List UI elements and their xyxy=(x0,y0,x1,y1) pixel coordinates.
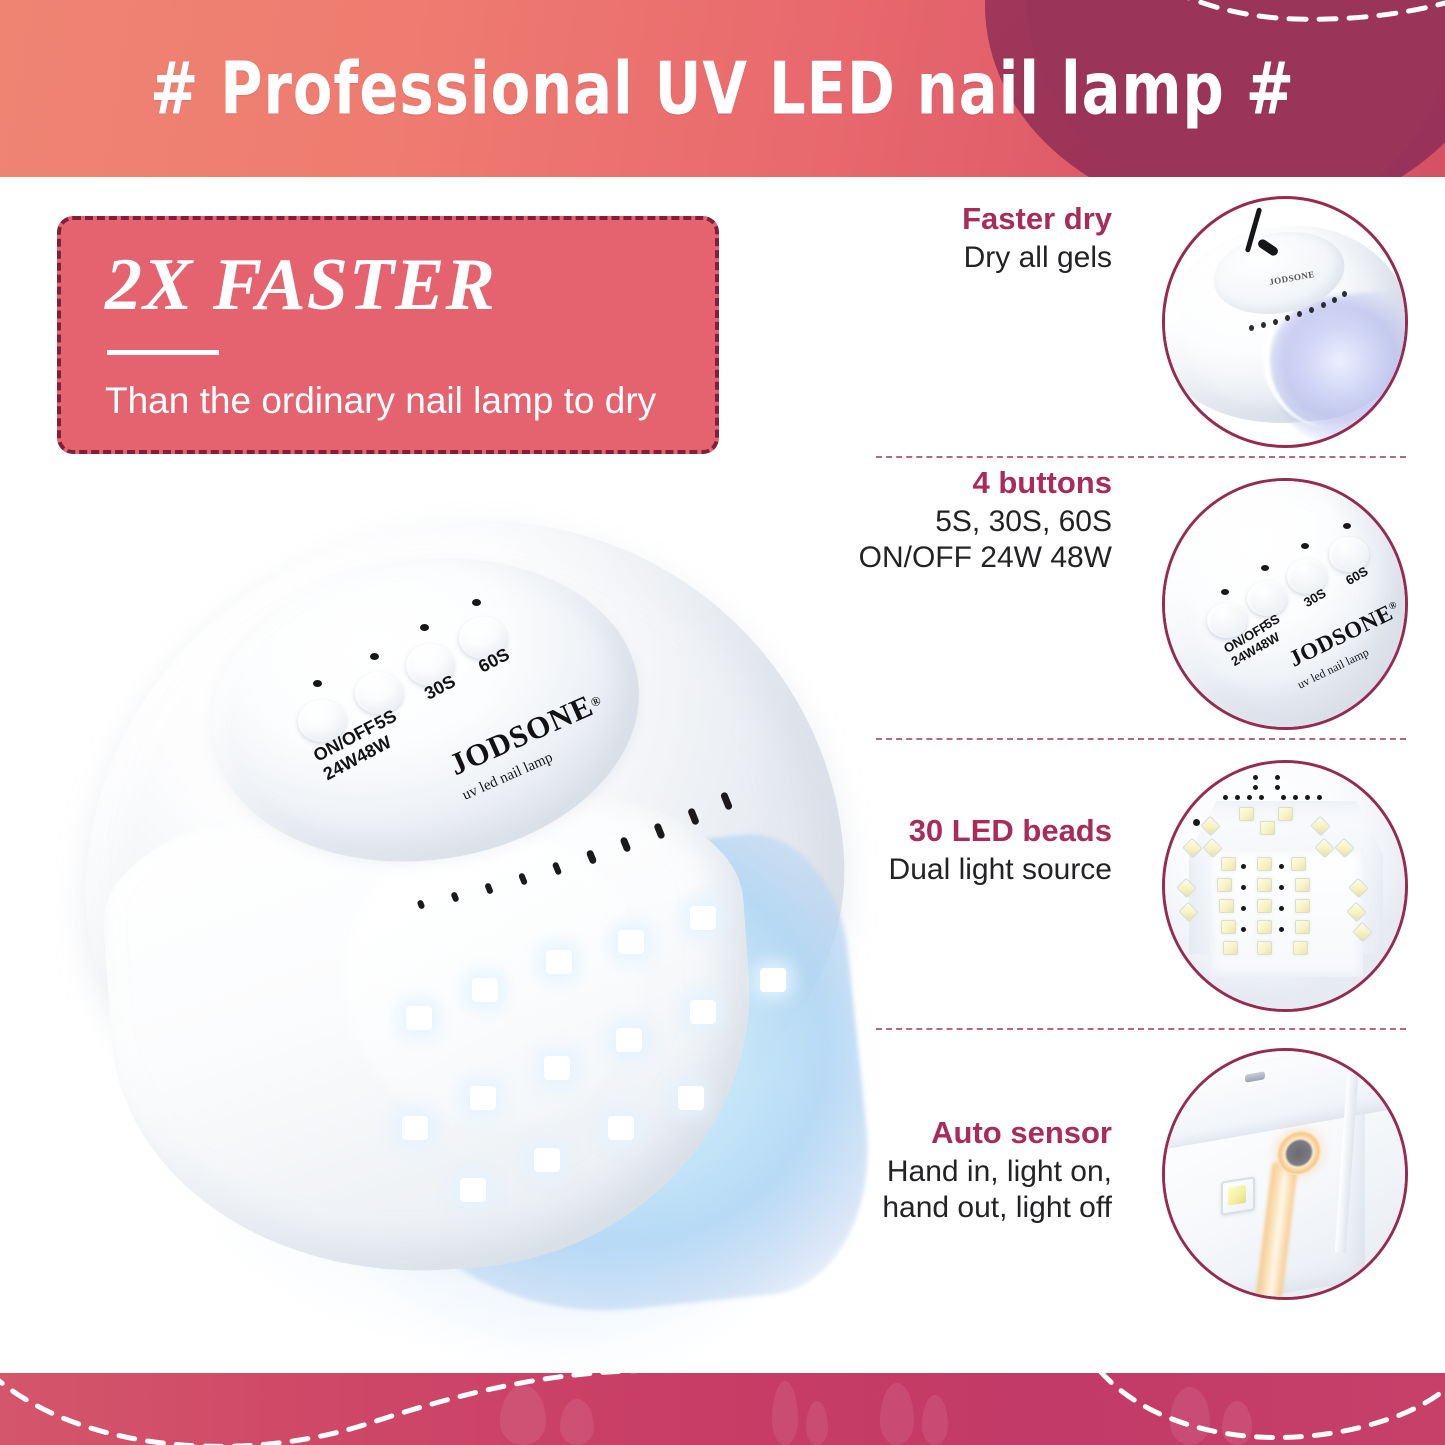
photo-sensor-dot xyxy=(1223,795,1228,800)
photo-vent-dot xyxy=(1261,322,1266,328)
led-bead xyxy=(470,1086,496,1110)
feature-separator xyxy=(876,456,1406,458)
led-bead xyxy=(618,930,644,954)
photo-sensor-dot xyxy=(1305,795,1310,800)
photo-sensor-led-chip xyxy=(1221,1176,1255,1215)
photo-indicator-dot xyxy=(1301,543,1309,549)
photo-led-chip xyxy=(1257,941,1272,955)
led-bead xyxy=(402,1116,428,1140)
feature-text-block: 30 LED beads Dual light source xyxy=(852,812,1112,888)
photo-led-chip xyxy=(1295,920,1310,934)
led-bead xyxy=(544,1056,570,1080)
photo-floor-dot xyxy=(1241,885,1246,890)
photo-led-chip xyxy=(1239,807,1254,821)
feature-item-4-buttons: 4 buttons 5S, 30S, 60S ON/OFF 24W 48W ON… xyxy=(862,482,1422,752)
photo-vent-dot xyxy=(1321,302,1326,308)
feature-text-block: Faster dry Dry all gels xyxy=(852,200,1112,276)
photo-led-chip xyxy=(1295,899,1310,913)
feature-separator xyxy=(876,738,1406,740)
photo-led-chip xyxy=(1260,821,1275,835)
photo-vent-dot xyxy=(1273,319,1278,325)
page-title: # Professional UV LED nail lamp # xyxy=(51,0,1395,177)
photo-sensor-dot xyxy=(1275,785,1280,790)
photo-sensor-dot xyxy=(1253,785,1258,790)
feature-text-block: Auto sensor Hand in, light on, hand out,… xyxy=(852,1114,1112,1227)
indicator-dot-60s xyxy=(472,599,481,606)
feature-title: Faster dry xyxy=(852,200,1112,238)
feature-line: Hand in, light on, xyxy=(852,1154,1112,1191)
feature-item-faster-dry: Faster dry Dry all gels JODSONE xyxy=(862,200,1422,470)
photo-sensor-dot xyxy=(1275,775,1280,780)
photo-vent-dot xyxy=(1332,297,1337,303)
led-bead xyxy=(690,906,716,930)
feature-title: 4 buttons xyxy=(852,464,1112,502)
led-bead xyxy=(760,968,786,992)
photo-sensor-dot xyxy=(1235,795,1240,800)
footer-decoration xyxy=(0,1337,1445,1445)
feature-title: 30 LED beads xyxy=(852,812,1112,850)
photo-indicator-dot xyxy=(1343,523,1351,529)
promo-subline: Than the ordinary nail lamp to dry xyxy=(105,380,656,422)
photo-led-chip xyxy=(1219,899,1234,913)
photo-led-chip xyxy=(1221,857,1236,871)
feature-photo-control-panel: ON/OFF24W48W 5S 30S 60S JODSONE® uv led … xyxy=(1162,478,1408,730)
promo-box: 2X FASTER Than the ordinary nail lamp to… xyxy=(57,216,719,454)
photo-floor-dot xyxy=(1279,864,1284,869)
photo-led-chip xyxy=(1278,807,1293,821)
led-bead xyxy=(406,1006,432,1030)
photo-indicator-dot xyxy=(1261,565,1269,571)
feature-separator xyxy=(876,1028,1406,1030)
indicator-dot-onoff xyxy=(313,680,322,687)
photo-button-5s xyxy=(1247,581,1287,616)
photo-floor-dot xyxy=(1279,885,1284,890)
feature-item-led-beads: 30 LED beads Dual light source xyxy=(862,764,1422,1034)
led-bead xyxy=(460,1178,486,1202)
feature-line: ON/OFF 24W 48W xyxy=(852,540,1112,577)
photo-sensor-dot xyxy=(1247,795,1252,800)
photo-vent-dot xyxy=(1309,307,1314,313)
led-bead xyxy=(608,1116,634,1140)
photo-vent-dot xyxy=(1285,315,1290,321)
photo-led-chip xyxy=(1223,941,1238,955)
photo-side-sensor xyxy=(1193,819,1200,826)
feature-list: Faster dry Dry all gels JODSONE xyxy=(862,200,1422,1350)
infographic-page: # Professional UV LED nail lamp # 2X FAS… xyxy=(0,0,1445,1445)
footer-dashed-scallop xyxy=(0,1337,1445,1445)
photo-floor-dot xyxy=(1279,906,1284,911)
photo-vent-dot xyxy=(1249,325,1254,331)
photo-indicator-dot xyxy=(1221,589,1229,595)
main-product-image: ON/OFF24W48W 5S 30S 60S JODSONE® uv led … xyxy=(40,470,860,1340)
feature-title: Auto sensor xyxy=(852,1114,1112,1152)
photo-vent-dot xyxy=(1342,291,1347,297)
led-bead xyxy=(534,1148,560,1172)
button-5s[interactable] xyxy=(355,672,403,714)
led-bead xyxy=(690,1000,716,1024)
lamp-body: ON/OFF24W48W 5S 30S 60S JODSONE® uv led … xyxy=(60,500,860,1260)
feature-line: 5S, 30S, 60S xyxy=(852,504,1112,541)
indicator-dot-30s xyxy=(420,624,429,631)
photo-sensor-dot xyxy=(1259,795,1264,800)
photo-sensor-dot xyxy=(1253,775,1258,780)
feature-line: Dual light source xyxy=(852,852,1112,889)
feature-photo-auto-sensor xyxy=(1162,1048,1408,1300)
feature-line: Dry all gels xyxy=(852,240,1112,277)
feature-photo-lamp-angled: JODSONE xyxy=(1162,196,1408,448)
photo-led-chip xyxy=(1257,920,1272,934)
led-bead xyxy=(678,1086,704,1110)
photo-led-chip xyxy=(1295,878,1310,892)
promo-headline: 2X FASTER xyxy=(105,248,496,322)
feature-line: hand out, light off xyxy=(852,1190,1112,1227)
feature-photo-led-interior xyxy=(1162,760,1408,1012)
header-banner: # Professional UV LED nail lamp # xyxy=(0,0,1445,177)
feature-item-auto-sensor: Auto sensor Hand in, light on, hand out,… xyxy=(862,1052,1422,1322)
photo-led-chip xyxy=(1291,857,1306,871)
led-bead xyxy=(472,978,498,1002)
led-bead xyxy=(616,1028,642,1052)
photo-led-chip xyxy=(1293,941,1308,955)
photo-led-chip xyxy=(1217,878,1232,892)
photo-led-chip xyxy=(1257,878,1272,892)
photo-floor-dot xyxy=(1241,864,1246,869)
led-bead xyxy=(546,950,572,974)
feature-text-block: 4 buttons 5S, 30S, 60S ON/OFF 24W 48W xyxy=(852,464,1112,577)
photo-floor-dot xyxy=(1241,906,1246,911)
photo-sensor-dot xyxy=(1293,795,1298,800)
photo-floor-dot xyxy=(1241,927,1246,932)
photo-vent-dot xyxy=(1297,311,1302,317)
promo-divider xyxy=(107,350,219,355)
photo-sensor-dot xyxy=(1281,795,1286,800)
photo-led-chip xyxy=(1257,857,1272,871)
photo-led-chip xyxy=(1221,920,1236,934)
photo-floor-dot xyxy=(1279,927,1284,932)
photo-sensor-dot xyxy=(1317,795,1322,800)
indicator-dot-5s xyxy=(370,653,379,660)
photo-led-chip xyxy=(1257,899,1272,913)
